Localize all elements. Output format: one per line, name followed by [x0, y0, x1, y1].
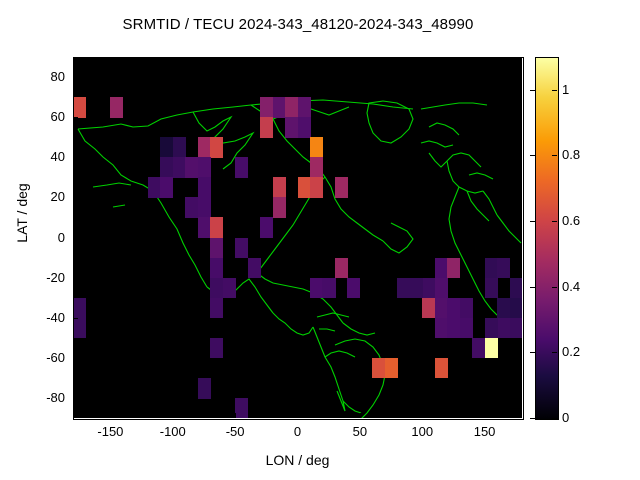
- heatmap-cell: [460, 318, 473, 339]
- heatmap-cell: [285, 117, 298, 138]
- y-tick-label: 0: [25, 230, 65, 245]
- heatmap-cell: [447, 318, 460, 339]
- heatmap-cell: [310, 137, 323, 158]
- colorbar-tick-mark: [552, 90, 557, 91]
- colorbar-tick-label: 0.4: [562, 279, 580, 294]
- y-tick-label: 40: [25, 149, 65, 164]
- heatmap-cell: [73, 318, 86, 339]
- y-tick-mark: [73, 117, 78, 118]
- colorbar-tick-mark: [530, 221, 535, 222]
- heatmap-cell: [497, 318, 510, 339]
- x-tick-label: 150: [455, 424, 515, 439]
- x-tick-label: 100: [392, 424, 452, 439]
- y-tick-mark: [73, 157, 78, 158]
- heatmap-cell: [223, 278, 236, 299]
- heatmap-cell: [322, 278, 335, 299]
- colorbar-tick-mark: [530, 418, 535, 419]
- heatmap-cell: [198, 378, 211, 399]
- heatmap-cell: [148, 177, 161, 198]
- heatmap-cell: [510, 318, 522, 339]
- x-tick-label: -100: [143, 424, 203, 439]
- heatmap-cell: [460, 298, 473, 319]
- x-tick-mark: [360, 413, 361, 418]
- heatmap-cell: [285, 97, 298, 118]
- heatmap-cell: [260, 117, 273, 138]
- heatmap-cell: [485, 338, 498, 359]
- y-tick-label: 80: [25, 69, 65, 84]
- heatmap-cell: [160, 177, 173, 198]
- x-tick-mark: [422, 413, 423, 418]
- heatmap-cell: [73, 298, 86, 319]
- heatmap-cell: [260, 217, 273, 238]
- heatmap-cell: [298, 97, 311, 118]
- heatmap-cell: [497, 258, 510, 279]
- heatmap-cell: [185, 197, 198, 218]
- colorbar-tick-label: 0.6: [562, 213, 580, 228]
- heatmap-cell: [210, 238, 223, 259]
- heatmap-cell: [485, 318, 498, 339]
- heatmap-cell: [385, 358, 398, 379]
- heatmap-cell: [173, 137, 186, 158]
- heatmap-cell: [422, 298, 435, 319]
- heatmap-cell: [185, 157, 198, 178]
- heatmap-cell: [210, 298, 223, 319]
- colorbar-tick-mark: [552, 155, 557, 156]
- heatmap-cell: [235, 398, 248, 418]
- heatmap-cell: [335, 177, 348, 198]
- heatmap-cell: [160, 157, 173, 178]
- colorbar-tick-mark: [552, 352, 557, 353]
- chart-title: SRMTID / TECU 2024-343_48120-2024-343_48…: [0, 16, 596, 33]
- colorbar-tick-mark: [530, 287, 535, 288]
- colorbar-tick-label: 0: [562, 410, 569, 425]
- y-tick-label: 60: [25, 109, 65, 124]
- y-tick-label: -80: [25, 390, 65, 405]
- heatmap-cell: [210, 278, 223, 299]
- x-tick-label: -150: [80, 424, 140, 439]
- heatmap-cell: [260, 97, 273, 118]
- heatmap-cell: [510, 298, 522, 319]
- heatmap-cell: [298, 117, 311, 138]
- heatmap-cell: [198, 217, 211, 238]
- y-tick-label: 20: [25, 189, 65, 204]
- heatmap-cell: [198, 137, 211, 158]
- heatmap-cell: [435, 358, 448, 379]
- colorbar-tick-mark: [552, 221, 557, 222]
- y-tick-mark: [73, 278, 78, 279]
- heatmap-cell: [198, 157, 211, 178]
- heatmap-cell: [335, 258, 348, 279]
- heatmap-cell: [310, 157, 323, 178]
- x-tick-label: -50: [205, 424, 265, 439]
- heatmap-cell: [435, 258, 448, 279]
- map-plot-area: [73, 57, 522, 418]
- heatmap-cell: [497, 298, 510, 319]
- colorbar-tick-label: 1: [562, 82, 569, 97]
- heatmap-cell: [73, 97, 86, 118]
- heatmap-cell: [310, 177, 323, 198]
- heatmap-cell: [235, 238, 248, 259]
- colorbar-tick-label: 0.2: [562, 344, 580, 359]
- heatmap-cell: [397, 278, 410, 299]
- y-tick-mark: [73, 358, 78, 359]
- colorbar-tick-mark: [530, 90, 535, 91]
- y-tick-label: -60: [25, 350, 65, 365]
- y-tick-mark: [73, 238, 78, 239]
- heatmap-cell: [160, 137, 173, 158]
- heatmap-cell: [447, 258, 460, 279]
- heatmap-cell: [435, 318, 448, 339]
- x-tick-mark: [485, 413, 486, 418]
- heatmap-cell: [472, 338, 485, 359]
- colorbar-tick-mark: [530, 352, 535, 353]
- heatmap-cell: [248, 258, 261, 279]
- y-tick-label: -20: [25, 270, 65, 285]
- x-tick-mark: [173, 413, 174, 418]
- heatmap-cell: [485, 258, 498, 279]
- y-tick-mark: [73, 398, 78, 399]
- x-tick-label: 0: [268, 424, 328, 439]
- heatmap-cell: [198, 177, 211, 198]
- heatmap-cell: [435, 298, 448, 319]
- x-tick-label: 50: [330, 424, 390, 439]
- colorbar-tick-label: 0.8: [562, 147, 580, 162]
- x-tick-mark: [110, 413, 111, 418]
- y-tick-mark: [73, 318, 78, 319]
- heatmap-cell: [298, 177, 311, 198]
- heatmap-cell: [210, 338, 223, 359]
- heatmap-cell: [310, 278, 323, 299]
- heatmap-cells-layer: [73, 57, 522, 418]
- colorbar-tick-mark: [552, 418, 557, 419]
- heatmap-cell: [273, 197, 286, 218]
- colorbar: [535, 57, 559, 420]
- heatmap-cell: [422, 278, 435, 299]
- heatmap-cell: [372, 358, 385, 379]
- heatmap-cell: [447, 298, 460, 319]
- heatmap-cell: [410, 278, 423, 299]
- x-tick-mark: [235, 413, 236, 418]
- heatmap-cell: [235, 157, 248, 178]
- y-tick-label: -40: [25, 310, 65, 325]
- heatmap-cell: [110, 97, 123, 118]
- heatmap-cell: [435, 278, 448, 299]
- y-tick-mark: [73, 77, 78, 78]
- chart-figure: SRMTID / TECU 2024-343_48120-2024-343_48…: [0, 0, 640, 480]
- heatmap-cell: [173, 157, 186, 178]
- heatmap-cell: [347, 278, 360, 299]
- heatmap-cell: [210, 217, 223, 238]
- colorbar-tick-mark: [552, 287, 557, 288]
- heatmap-cell: [510, 278, 522, 299]
- heatmap-cell: [273, 177, 286, 198]
- colorbar-tick-mark: [530, 155, 535, 156]
- x-tick-mark: [298, 413, 299, 418]
- heatmap-cell: [273, 97, 286, 118]
- y-axis-label: LAT / deg: [14, 153, 30, 273]
- x-axis-label: LON / deg: [73, 452, 522, 468]
- y-tick-mark: [73, 197, 78, 198]
- heatmap-cell: [210, 258, 223, 279]
- heatmap-cell: [198, 197, 211, 218]
- heatmap-cell: [485, 278, 498, 299]
- heatmap-cell: [210, 137, 223, 158]
